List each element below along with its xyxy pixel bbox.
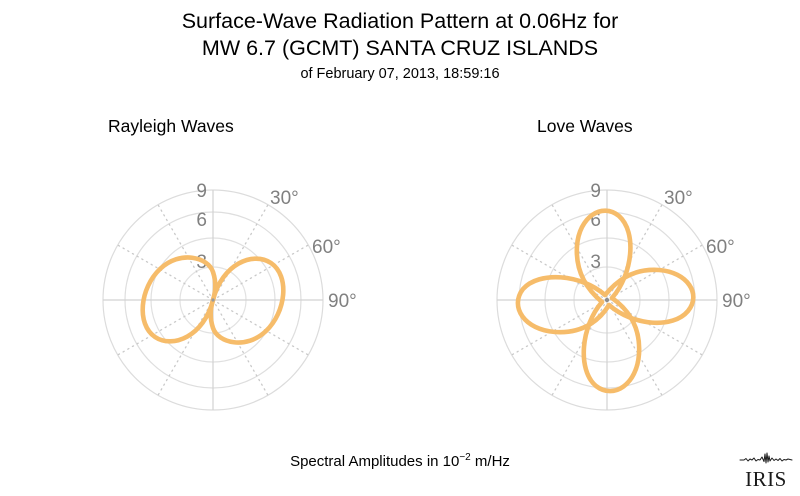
- iris-logo: IRIS: [739, 452, 793, 490]
- love-panel-title: Love Waves: [537, 116, 633, 137]
- iris-wordmark: IRIS: [739, 469, 793, 490]
- chart-header: Surface-Wave Radiation Pattern at 0.06Hz…: [0, 8, 800, 85]
- love-lobe-south: [584, 298, 639, 391]
- rtick-label-9: 9: [196, 181, 207, 202]
- rayleigh-polar-plot: 9 6 3 30° 60° 90°: [63, 150, 363, 450]
- seismogram-icon: [739, 452, 793, 465]
- grid-spoke-150: [607, 300, 662, 395]
- thetatick-label-90: 90°: [722, 291, 751, 312]
- grid-spoke-210: [552, 300, 607, 395]
- footer-caption-prefix: Spectral Amplitudes in 10: [290, 453, 459, 470]
- grid-spoke-210: [158, 300, 213, 395]
- thetatick-label-60: 60°: [312, 237, 341, 258]
- love-lobe-north: [577, 211, 631, 302]
- grid-spoke-60: [607, 245, 702, 300]
- footer-caption-suffix: m/Hz: [471, 453, 510, 470]
- love-lobe-east: [605, 270, 693, 323]
- love-radial-tick-labels: 9 6 3: [590, 181, 601, 273]
- rtick-label-6: 6: [196, 210, 207, 231]
- love-origin-dot: [605, 298, 609, 302]
- thetatick-label-90: 90°: [328, 291, 357, 312]
- rtick-label-3: 3: [590, 252, 601, 273]
- rayleigh-panel-title: Rayleigh Waves: [108, 116, 234, 137]
- footer-caption: Spectral Amplitudes in 10−2 m/Hz: [0, 452, 800, 470]
- thetatick-label-30: 30°: [664, 188, 693, 209]
- rtick-label-9: 9: [590, 181, 601, 202]
- grid-spoke-30: [213, 205, 268, 300]
- thetatick-label-60: 60°: [706, 237, 735, 258]
- rayleigh-origin-dot: [211, 298, 214, 301]
- grid-spoke-120: [213, 300, 308, 355]
- page-subtitle: of February 07, 2013, 18:59:16: [0, 64, 800, 85]
- footer-caption-exponent: −2: [459, 452, 470, 463]
- love-angular-tick-labels: 30° 60° 90°: [664, 188, 751, 312]
- thetatick-label-30: 30°: [270, 188, 299, 209]
- page-title-line1: Surface-Wave Radiation Pattern at 0.06Hz…: [0, 8, 800, 35]
- grid-spoke-150: [213, 300, 268, 395]
- love-polar-plot: 9 6 3 30° 60° 90°: [457, 150, 757, 450]
- rayleigh-polar-svg: 9 6 3 30° 60° 90°: [63, 150, 363, 450]
- page-title-line2: MW 6.7 (GCMT) SANTA CRUZ ISLANDS: [0, 35, 800, 62]
- love-lobe-west: [518, 277, 609, 332]
- grid-spoke-240: [512, 300, 607, 355]
- love-polar-svg: 9 6 3 30° 60° 90°: [457, 150, 757, 450]
